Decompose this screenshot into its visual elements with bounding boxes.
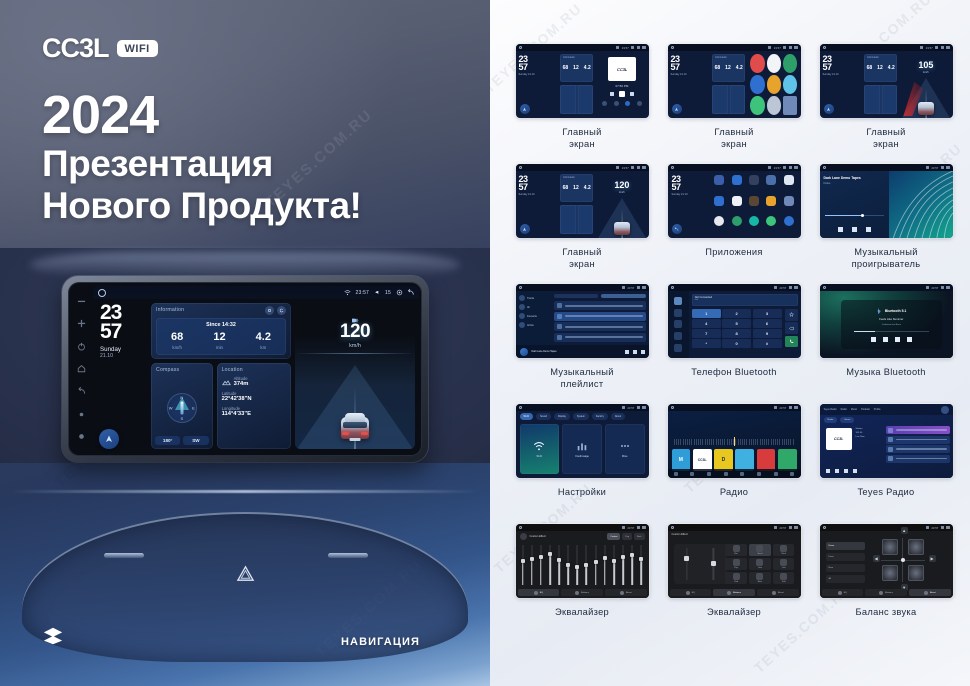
next-icon[interactable] — [844, 469, 848, 473]
key[interactable]: 3 — [753, 309, 782, 318]
tab-eq[interactable]: EQ — [518, 589, 560, 596]
altitude-mountain-icon — [222, 378, 231, 387]
app-item[interactable] — [765, 216, 778, 234]
clock-date: Sunday 21.10 — [671, 73, 711, 77]
presentation-slide: TEYES.COM.RU TEYES.COM.RU TEYES.COM.RU C… — [0, 0, 970, 686]
nav-dot[interactable] — [625, 101, 630, 106]
track-row[interactable] — [554, 301, 645, 310]
contacts-icon[interactable] — [674, 309, 682, 317]
app-icon — [784, 175, 794, 185]
next-icon[interactable] — [641, 350, 645, 354]
navigation-fab[interactable] — [824, 104, 834, 114]
key[interactable]: 9 — [753, 329, 782, 338]
home-icon — [671, 286, 675, 290]
scan-icon[interactable] — [740, 472, 744, 476]
eq-slider[interactable] — [621, 545, 625, 585]
back-fab[interactable] — [672, 224, 682, 234]
preset-row[interactable]: Front — [826, 553, 866, 561]
thumbnail-caption: Музыкальный плейлист — [550, 367, 613, 391]
compass-dial: N E S W — [167, 393, 197, 423]
station-row[interactable] — [886, 445, 950, 453]
brightness-down-icon[interactable] — [77, 410, 86, 419]
back-arrow-icon[interactable] — [407, 289, 414, 296]
app-icon[interactable] — [783, 75, 797, 94]
thumbnail-bt-phone[interactable]: 23:57 Not Connected Dial — [668, 284, 801, 358]
app-item[interactable] — [712, 175, 725, 193]
key[interactable]: * — [692, 339, 721, 348]
app-icon — [784, 196, 794, 206]
chip-genre[interactable]: Genre — [840, 417, 854, 423]
thumbnail-caption: Приложения — [705, 247, 762, 259]
volume-icon — [374, 289, 381, 296]
power-icon[interactable] — [77, 342, 86, 351]
preset-tile[interactable] — [735, 449, 754, 471]
eq-slider[interactable] — [539, 545, 543, 585]
home-icon — [671, 406, 675, 410]
head-unit-screen[interactable]: 23:57 15 23 57 Sunday 2 — [93, 286, 419, 453]
meta-line: 102.40 — [856, 432, 865, 434]
balance-position-dot[interactable] — [901, 558, 905, 562]
favourite-icon[interactable] — [853, 469, 857, 473]
volume-up-icon[interactable] — [77, 319, 86, 328]
preset-icon — [520, 533, 527, 540]
speed-value: 105 — [899, 60, 952, 70]
prev-icon[interactable] — [826, 469, 830, 473]
refresh-icon[interactable] — [277, 306, 286, 315]
information-card[interactable]: Information Since 14:32 68 — [151, 303, 291, 359]
app-item[interactable] — [712, 216, 725, 234]
mini-player-bar[interactable]: Dark Lane Demo Tapes — [516, 345, 649, 358]
longitude-value: 114°4'33"E — [222, 411, 291, 418]
dashboard-highlight — [30, 252, 460, 278]
status-time: 23:57 — [627, 406, 634, 410]
play-pause-icon[interactable] — [883, 337, 888, 342]
balance-presets[interactable]: Driver Front Rear All — [826, 542, 866, 583]
thumbnail-sound-balance[interactable]: 23:57 Driver Front Rear All — [820, 524, 953, 598]
eq-slider[interactable] — [684, 548, 689, 580]
hero-headline: 2024 Презентация Нового Продукта! — [42, 88, 361, 227]
tab-reset[interactable]: Reset — [605, 589, 647, 596]
apps-icon[interactable] — [790, 472, 794, 476]
tab-balance[interactable]: Balance — [561, 589, 603, 596]
driving-view[interactable]: 105 km/h — [899, 51, 952, 118]
app-icon — [732, 175, 742, 185]
eq-tabs[interactable]: EQ Balance Reset — [516, 587, 649, 598]
eq-slider[interactable] — [639, 545, 643, 585]
preset-tile[interactable]: CC3L — [693, 449, 712, 471]
speaker-rear-left[interactable] — [882, 565, 898, 581]
gallery-item[interactable]: 23:57 Driver Front Rear All — [812, 524, 960, 644]
navigation-fab[interactable] — [672, 104, 682, 114]
teyes-radio-header[interactable]: Teyes Radio Radio Music Podcast Profile — [820, 404, 953, 415]
tab-reset[interactable]: Reset — [757, 589, 799, 596]
tab-about[interactable]: About — [611, 413, 625, 420]
album-art — [520, 348, 528, 356]
prev-icon[interactable] — [625, 350, 629, 354]
app-list[interactable] — [707, 171, 800, 238]
app-item[interactable] — [747, 196, 760, 214]
home-icon — [519, 286, 523, 290]
chip-radio[interactable]: Radio — [824, 417, 838, 423]
stat-unit: km/h — [171, 345, 183, 350]
back-arrow-icon[interactable] — [77, 387, 86, 396]
progress-bar[interactable] — [854, 331, 929, 332]
filter-chips[interactable]: Radio Genre — [824, 417, 855, 423]
eq-slider[interactable] — [548, 545, 552, 585]
prev-icon[interactable] — [610, 92, 614, 96]
home-icon[interactable] — [674, 472, 678, 476]
mode-button[interactable]: Live — [773, 558, 794, 570]
app-icon[interactable] — [750, 54, 764, 73]
gallery-item[interactable]: 23:57 Bluetooth 5.1 Feels Like Summer Ca… — [812, 284, 960, 404]
nav-item[interactable]: Podcast — [861, 408, 870, 411]
key[interactable]: 7 — [692, 329, 721, 338]
eq-slider[interactable] — [557, 545, 561, 585]
eq-sliders[interactable] — [674, 544, 727, 584]
key[interactable]: 1 — [692, 309, 721, 318]
key[interactable]: 8 — [722, 329, 751, 338]
tab-balance[interactable]: Balance — [713, 589, 755, 596]
clock-date: Sunday 21.10 — [519, 193, 559, 197]
thumbnail-music-player[interactable]: 23:57 Dark Lane Demo Tapes Drake — [820, 164, 953, 238]
clock-date: 21.10 — [97, 353, 147, 359]
key[interactable]: # — [753, 339, 782, 348]
information-title: Information — [712, 54, 745, 59]
thumbnail-home-media[interactable]: 23:57 2357Sunday 21.10 Information68124.… — [516, 44, 649, 118]
home-icon[interactable] — [98, 289, 106, 297]
home-icon[interactable] — [77, 364, 86, 373]
speaker-front-left[interactable] — [882, 539, 898, 555]
app-icon — [714, 175, 724, 185]
app-icon[interactable] — [767, 54, 781, 73]
thumbnail-playlist[interactable]: 23:57 Tracks All Favourite Artists — [516, 284, 649, 358]
dial-keypad[interactable]: 1 2 3 4 5 6 7 8 9 * — [692, 309, 782, 348]
app-icon — [732, 196, 742, 206]
navigation-fab[interactable] — [520, 224, 530, 234]
app-icon[interactable] — [767, 75, 781, 94]
eq-slider[interactable] — [575, 545, 579, 585]
home-icon — [519, 46, 523, 50]
product-logo: CC3L WIFI — [42, 33, 158, 64]
gallery-item[interactable]: 23:57 2357Sunday 21.10 Information68124.… — [508, 44, 656, 164]
nav-item[interactable]: Radio — [841, 408, 847, 411]
settings-icon[interactable] — [774, 472, 778, 476]
album-art-text: CC3L — [616, 67, 628, 72]
preset-button[interactable]: Pop — [622, 533, 632, 540]
preset-tile[interactable]: M — [672, 449, 691, 471]
track-row[interactable] — [554, 312, 645, 321]
preset-row[interactable]: All — [826, 575, 866, 583]
app-item[interactable] — [712, 196, 725, 214]
app-icon[interactable] — [750, 75, 764, 94]
app-icon[interactable] — [750, 96, 764, 115]
next-icon[interactable] — [630, 92, 634, 96]
radio-toolbar[interactable] — [668, 469, 801, 478]
hazard-light-button[interactable] — [230, 558, 260, 588]
next-icon[interactable] — [907, 337, 912, 342]
track-list[interactable] — [551, 291, 648, 345]
stat-value: 4.2 — [888, 65, 895, 71]
eq-slider[interactable] — [603, 545, 607, 585]
speaker-rear-right[interactable] — [908, 565, 924, 581]
eq-sliders[interactable] — [521, 545, 644, 585]
phone-number-input[interactable]: Not Connected Dial — [692, 294, 798, 306]
app-shortcut-grid[interactable] — [747, 51, 800, 118]
eq-slider[interactable] — [530, 545, 534, 585]
tab-factory[interactable]: Factory — [592, 413, 608, 420]
driving-view[interactable]: 120 km/h — [595, 171, 648, 238]
thumbnail-caption: Музыка Bluetooth — [846, 367, 926, 379]
preset-tile[interactable] — [778, 449, 797, 471]
stop-icon[interactable] — [895, 337, 900, 342]
mode-button[interactable]: Bass — [749, 572, 770, 584]
phone-sidebar[interactable] — [668, 291, 689, 358]
stat-value: 4.2 — [584, 65, 591, 71]
eq-slider[interactable] — [630, 545, 634, 585]
preset-row[interactable]: Driver — [826, 542, 866, 550]
gallery-item[interactable]: 23:57 Dark Lane Demo Tapes Drake — [812, 164, 960, 284]
eq-slider[interactable] — [521, 545, 525, 585]
mode-button[interactable]: Soft — [773, 572, 794, 584]
home-icon — [519, 166, 523, 170]
compass-heading: 180° — [155, 436, 180, 445]
eq-slider[interactable] — [584, 545, 588, 585]
prev-icon[interactable] — [838, 227, 843, 232]
driving-view-card[interactable]: 120 km/h — [295, 303, 415, 449]
gallery-item[interactable]: 23:57 Wi-Fi Sound Display System Factory… — [508, 404, 656, 524]
app-icon[interactable] — [767, 96, 781, 115]
app-item[interactable] — [730, 175, 743, 193]
eq-slider[interactable] — [711, 548, 716, 580]
eq-slider[interactable] — [566, 545, 570, 585]
home-icon — [519, 406, 523, 410]
gallery-item[interactable]: 23:57 Resident FM ‹ FM 1 102.40 Auto › — [660, 404, 808, 524]
home-icon — [671, 526, 675, 530]
compass-needle — [180, 401, 183, 414]
key[interactable]: 5 — [722, 319, 751, 328]
station-row[interactable] — [886, 436, 950, 444]
compass-card[interactable]: Compass N E S W — [151, 363, 213, 449]
stop-icon[interactable] — [835, 469, 839, 473]
list-icon[interactable] — [707, 472, 711, 476]
location-card[interactable]: Location Altitude 374m — [217, 363, 291, 449]
sidebar-item[interactable]: All — [519, 304, 549, 310]
thumbnail-apps[interactable]: 23:57 2357Sunday 21.10 — [668, 164, 801, 238]
settings-card-more[interactable]: More — [605, 424, 645, 474]
sidebar-item[interactable]: Tracks — [519, 295, 549, 301]
tab-eq[interactable]: EQ — [822, 589, 864, 596]
mode-button[interactable]: Flat — [725, 544, 746, 556]
app-icon[interactable] — [783, 54, 797, 73]
car-3d-model — [918, 102, 934, 115]
camera-icon[interactable] — [396, 289, 403, 296]
sidebar-item[interactable]: Favourite — [519, 313, 549, 319]
gallery-item[interactable]: 23:57 Tracks All Favourite Artists — [508, 284, 656, 404]
app-item[interactable] — [782, 175, 795, 193]
pause-icon[interactable] — [852, 227, 857, 232]
station-list[interactable] — [886, 426, 950, 475]
eq-tabs[interactable]: EQ Balance Reset — [668, 587, 801, 598]
tab-reset[interactable]: Reset — [909, 589, 951, 596]
home-icon — [519, 526, 523, 530]
move-right-button[interactable]: ▶ — [929, 555, 936, 562]
station-presets[interactable]: M CC3L D — [672, 449, 797, 471]
call-history-icon[interactable] — [674, 332, 682, 340]
gallery-item[interactable]: 23:57 Not Connected Dial — [660, 284, 808, 404]
status-time: 23:57 — [931, 166, 938, 170]
search-icon[interactable] — [690, 472, 694, 476]
wifi-badge: WIFI — [117, 40, 158, 57]
clock-date: Sunday 21.10 — [823, 73, 863, 77]
mode-button[interactable]: Pop — [725, 558, 746, 570]
status-time: 23:57 — [779, 286, 786, 290]
app-item[interactable] — [782, 196, 795, 214]
app-item[interactable] — [782, 216, 795, 234]
nav-dot[interactable] — [614, 101, 619, 106]
key[interactable]: 4 — [692, 319, 721, 328]
clock-widget[interactable]: 23 57 Sunday 21.10 — [97, 303, 147, 449]
speaker-front-right[interactable] — [908, 539, 924, 555]
preset-row[interactable]: Rear — [826, 564, 866, 572]
track-row[interactable] — [554, 333, 645, 342]
gallery-item[interactable]: 23:57 Custom Effect Custom Pop Rock — [508, 524, 656, 644]
vent-slot — [328, 553, 368, 558]
balance-pad[interactable] — [881, 538, 925, 582]
app-icon — [749, 216, 759, 226]
settings-tabs[interactable]: Wi-Fi Sound Display System Factory About — [516, 411, 649, 422]
next-icon[interactable] — [866, 227, 871, 232]
station-row[interactable] — [886, 455, 950, 463]
favourite-star-icon[interactable] — [785, 309, 798, 321]
visualizer — [889, 171, 953, 238]
gallery-item[interactable]: Teyes Radio Radio Music Podcast Profile … — [812, 404, 960, 524]
car-3d-model — [338, 413, 372, 443]
search-icon[interactable] — [674, 320, 682, 328]
mode-button[interactable]: Jazz — [749, 558, 770, 570]
dialpad-icon[interactable] — [674, 297, 682, 305]
nav-dot[interactable] — [602, 101, 607, 106]
nav-item[interactable]: Music — [851, 408, 857, 411]
gallery-item[interactable]: 23:57 2357Sunday 21.10 Information68124.… — [812, 44, 960, 164]
preset-button[interactable]: Rock — [634, 533, 645, 540]
gallery-item[interactable]: 23:57 2357Sunday 21.10 — [660, 164, 808, 284]
prev-icon[interactable] — [871, 337, 876, 342]
eq-preset-buttons[interactable]: Custom Pop Rock — [607, 533, 644, 540]
move-up-button[interactable]: ▲ — [901, 527, 908, 534]
thumbnail-equalizer-simple[interactable]: 23:57 Custom Effect Flat Vocal Rock Pop … — [668, 524, 801, 598]
thumbnail-settings[interactable]: 23:57 Wi-Fi Sound Display System Factory… — [516, 404, 649, 478]
speed-unit: km/h — [295, 343, 415, 349]
thumbnail-radio[interactable]: 23:57 Resident FM ‹ FM 1 102.40 Auto › — [668, 404, 801, 478]
key[interactable]: 2 — [722, 309, 751, 318]
backspace-icon[interactable] — [785, 322, 798, 334]
track-row[interactable] — [554, 322, 645, 331]
album-art: CC3L — [608, 57, 636, 81]
app-item[interactable] — [747, 175, 760, 193]
volume-down-icon[interactable] — [77, 297, 86, 306]
app-grid-icon[interactable] — [783, 96, 797, 115]
thumbnail-caption: Баланс звука — [856, 607, 917, 619]
tab-wifi[interactable]: Wi-Fi — [520, 413, 534, 420]
app-item[interactable] — [765, 196, 778, 214]
move-left-button[interactable]: ◀ — [873, 555, 880, 562]
settings-gear-icon[interactable] — [265, 306, 274, 315]
app-item[interactable] — [747, 216, 760, 234]
tab-system[interactable]: System — [573, 413, 589, 420]
nav-dot[interactable] — [637, 101, 642, 106]
thumbnail-teyes-radio[interactable]: Teyes Radio Radio Music Podcast Profile … — [820, 404, 953, 478]
call-button[interactable] — [785, 336, 798, 348]
mode-button[interactable]: Vocal — [749, 544, 770, 556]
gallery-item[interactable]: 23:57 2357Sunday 21.10 Information68124.… — [508, 164, 656, 284]
pause-icon[interactable] — [633, 350, 637, 354]
brightness-up-icon[interactable] — [77, 432, 86, 441]
app-item[interactable] — [730, 216, 743, 234]
thumbnail-caption: Главный экран — [562, 247, 601, 271]
sidebar-item[interactable]: Artists — [519, 322, 549, 328]
account-avatar[interactable] — [941, 406, 949, 414]
thumbnail-home-road[interactable]: 23:57 2357Sunday 21.10 Information68124.… — [820, 44, 953, 118]
thumbnail-home-road[interactable]: 23:57 2357Sunday 21.10 Information68124.… — [516, 164, 649, 238]
status-volume: 15 — [385, 290, 391, 296]
progress-bar[interactable] — [825, 215, 884, 216]
home-icon — [823, 526, 827, 530]
card-label: Wi-Fi — [537, 455, 543, 458]
thumbnail-caption: Главный экран — [714, 127, 753, 151]
eq-icon[interactable] — [724, 472, 728, 476]
eq-mode-buttons[interactable]: Flat Vocal Rock Pop Jazz Live Club Bass … — [725, 544, 794, 584]
eq-tabs[interactable]: EQ Balance Reset — [820, 587, 953, 598]
settings-card-wifi[interactable]: Wi-Fi — [520, 424, 560, 474]
key[interactable]: 6 — [753, 319, 782, 328]
hardware-buttons[interactable] — [72, 290, 90, 448]
mode-button[interactable]: Rock — [773, 544, 794, 556]
eq-slider[interactable] — [612, 545, 616, 585]
key[interactable]: 0 — [722, 339, 751, 348]
navigation-fab[interactable] — [520, 104, 530, 114]
navigation-fab[interactable] — [99, 429, 119, 449]
gallery-item[interactable]: 23:57 Custom Effect Flat Vocal Rock Pop … — [660, 524, 808, 644]
preset-tile[interactable] — [757, 449, 776, 471]
settings-card-credit[interactable]: Credit usage — [562, 424, 602, 474]
preset-tile[interactable]: D — [714, 449, 733, 471]
media-widget[interactable]: CC3L 07:50 PM — [595, 51, 648, 118]
mode-button[interactable]: Club — [725, 572, 746, 584]
preset-button[interactable]: Custom — [607, 533, 620, 540]
app-item[interactable] — [765, 175, 778, 193]
stat-value: 68 — [563, 65, 569, 71]
tab-sound[interactable]: Sound — [536, 413, 551, 420]
tab-display[interactable]: Display — [554, 413, 570, 420]
eq-slider[interactable] — [594, 545, 598, 585]
thumbnail-equalizer-bars[interactable]: 23:57 Custom Effect Custom Pop Rock — [516, 524, 649, 598]
settings-icon[interactable] — [674, 344, 682, 352]
station-row[interactable] — [886, 426, 950, 434]
band-icon[interactable] — [757, 472, 761, 476]
thumbnail-home-apps[interactable]: 23:57 2357Sunday 21.10 Information68124.… — [668, 44, 801, 118]
thumbnail-bt-music[interactable]: 23:57 Bluetooth 5.1 Feels Like Summer Ca… — [820, 284, 953, 358]
status-time: 23:57 — [774, 166, 781, 170]
tab-balance[interactable]: Balance — [865, 589, 907, 596]
status-time: 23:57 — [622, 46, 629, 50]
preset-label: Custom Effect — [530, 535, 546, 538]
nav-item[interactable]: Profile — [874, 408, 881, 411]
gallery-item[interactable]: 23:57 2357Sunday 21.10 Information68124.… — [660, 44, 808, 164]
tab-eq[interactable]: EQ — [670, 589, 712, 596]
app-item[interactable] — [730, 196, 743, 214]
track-artist: Drake — [824, 182, 885, 185]
stop-icon[interactable] — [619, 91, 625, 97]
